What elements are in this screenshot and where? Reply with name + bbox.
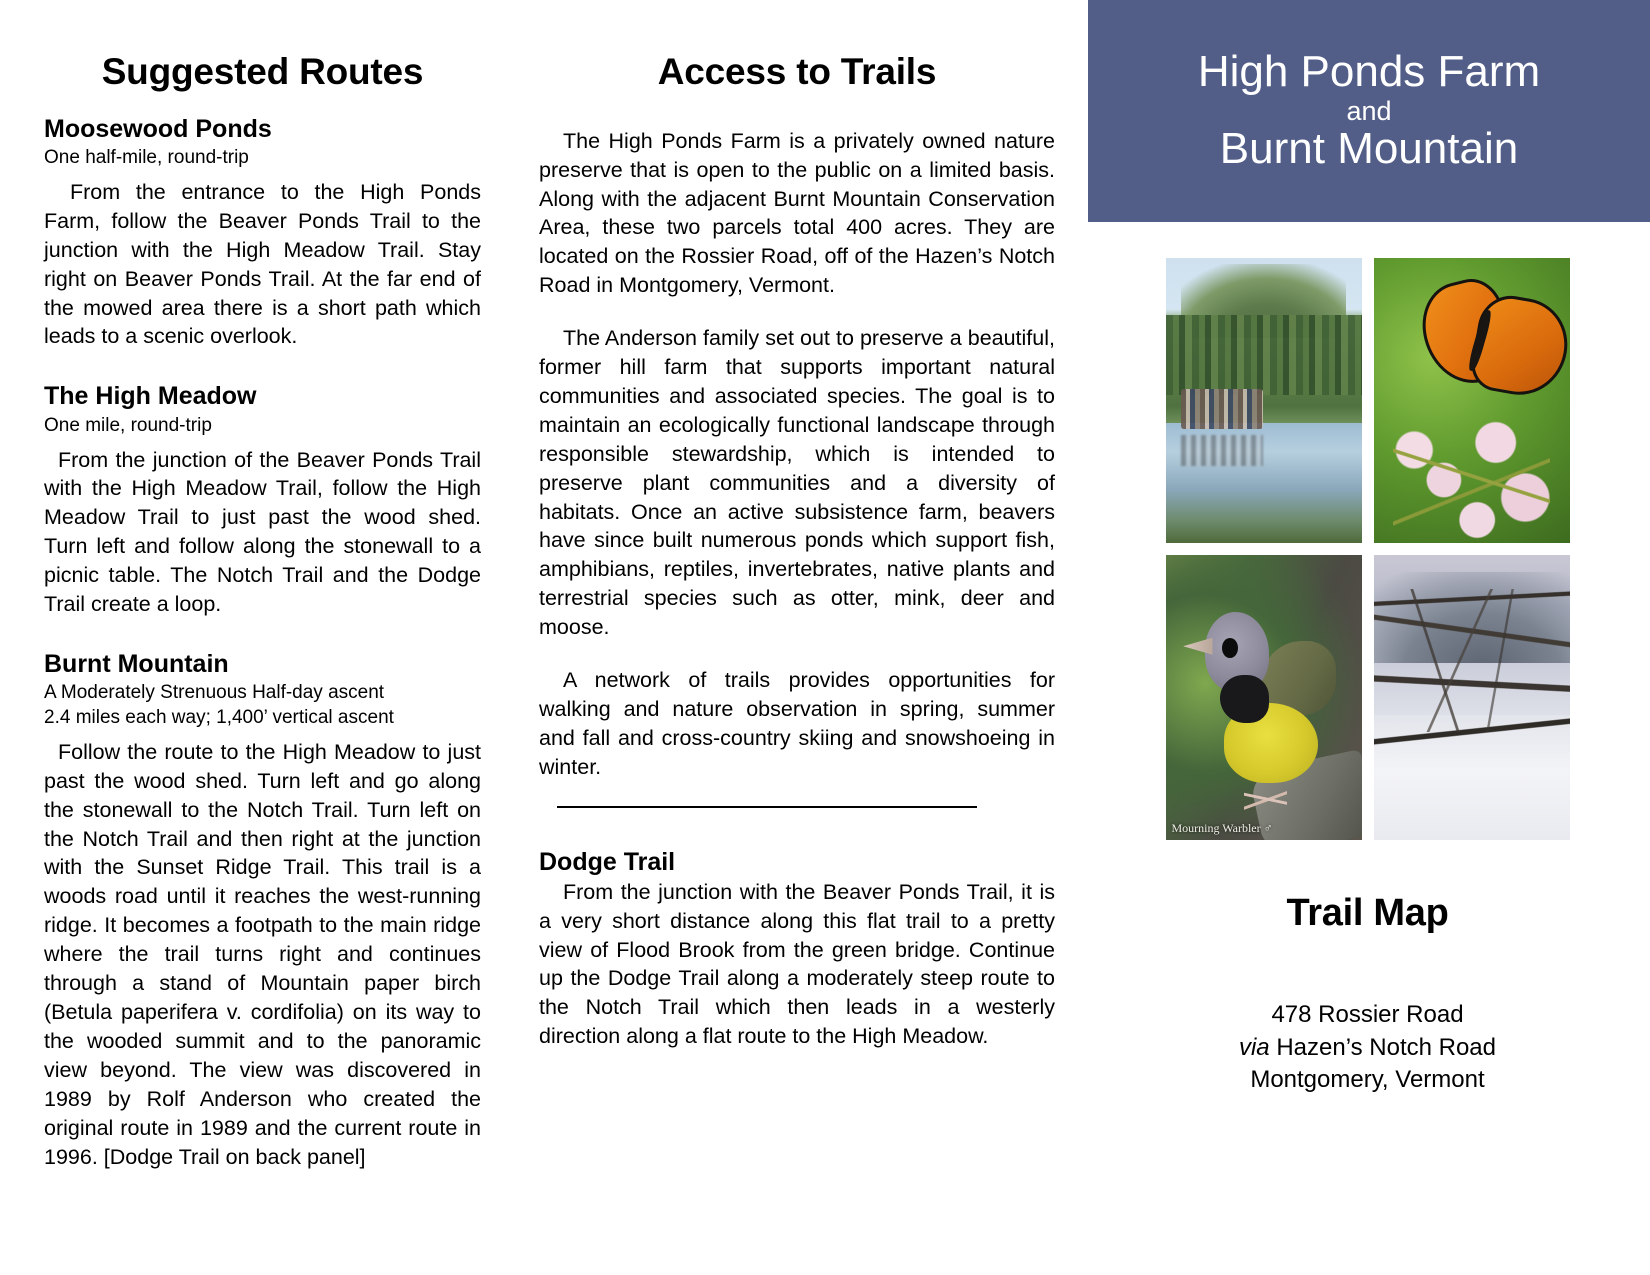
route-subheading-burnt-mountain: A Moderately Strenuous Half-day ascent: [44, 681, 481, 706]
bird-legs-shape: [1244, 766, 1287, 829]
access-paragraph-3: A network of trails provides opportuniti…: [539, 666, 1055, 782]
address-line-1: 478 Rossier Road: [1085, 999, 1650, 1032]
pond-with-visitors-photo: [1166, 258, 1362, 543]
cover-title-banner: High Ponds Farm and Burnt Mountain: [1088, 0, 1650, 222]
route-body-burnt-mountain: Follow the route to the High Meadow to j…: [44, 738, 481, 1172]
route-subheading2-burnt-mountain: 2.4 miles each way; 1,400’ vertical asce…: [44, 706, 481, 731]
address-road-name: Hazen’s Notch Road: [1270, 1034, 1496, 1061]
snowy-winter-woods-photo: [1374, 555, 1570, 840]
access-to-trails-panel: Access to Trails The High Ponds Farm is …: [525, 0, 1085, 1275]
treeline-shape: [1166, 315, 1362, 395]
access-paragraph-2: The Anderson family set out to preserve …: [539, 324, 1055, 642]
suggested-routes-panel: Suggested Routes Moosewood Ponds One hal…: [0, 0, 525, 1275]
spacer: [44, 619, 481, 650]
water-reflection-shape: [1181, 435, 1263, 466]
mourning-warbler-photo: Mourning Warbler ♂: [1166, 555, 1362, 840]
flower-stems-shape: [1393, 406, 1550, 543]
visitors-group-shape: [1181, 389, 1263, 429]
address-block: 478 Rossier Road via Hazen’s Notch Road …: [1085, 999, 1650, 1097]
bird-black-bib-shape: [1220, 675, 1269, 723]
dodge-trail-heading: Dodge Trail: [539, 848, 1055, 877]
route-subheading-moosewood-ponds: One half-mile, round-trip: [44, 146, 481, 171]
cover-title-and: and: [1346, 96, 1391, 126]
spacer: [44, 351, 481, 382]
brochure-page: Suggested Routes Moosewood Ponds One hal…: [0, 0, 1650, 1275]
address-via-word: via: [1239, 1034, 1270, 1061]
suggested-routes-title: Suggested Routes: [44, 52, 481, 93]
dodge-trail-body: From the junction with the Beaver Ponds …: [539, 878, 1055, 1051]
cover-title-line-2: Burnt Mountain: [1220, 126, 1518, 173]
access-to-trails-title: Access to Trails: [539, 52, 1055, 93]
snow-covered-branches-shape: [1374, 589, 1570, 732]
section-divider: [557, 806, 977, 808]
address-line-2: via Hazen’s Notch Road: [1085, 1032, 1650, 1065]
route-subheading-high-meadow: One mile, round-trip: [44, 414, 481, 439]
route-heading-moosewood-ponds: Moosewood Ponds: [44, 115, 481, 145]
address-line-3: Montgomery, Vermont: [1085, 1064, 1650, 1097]
route-heading-high-meadow: The High Meadow: [44, 382, 481, 412]
monarch-butterfly-photo: [1374, 258, 1570, 543]
cover-panel: High Ponds Farm and Burnt Mountain: [1085, 0, 1650, 1275]
access-paragraph-1: The High Ponds Farm is a privately owned…: [539, 127, 1055, 300]
route-heading-burnt-mountain: Burnt Mountain: [44, 650, 481, 680]
cover-title-line-1: High Ponds Farm: [1198, 49, 1540, 96]
route-body-moosewood-ponds: From the entrance to the High Ponds Farm…: [44, 178, 481, 351]
cover-photo-grid: Mourning Warbler ♂: [1166, 258, 1570, 840]
route-body-high-meadow: From the junction of the Beaver Ponds Tr…: [44, 446, 481, 619]
warbler-photo-caption: Mourning Warbler ♂: [1172, 821, 1273, 836]
trail-map-subtitle: Trail Map: [1085, 892, 1650, 935]
bird-eye-shape: [1222, 638, 1238, 658]
